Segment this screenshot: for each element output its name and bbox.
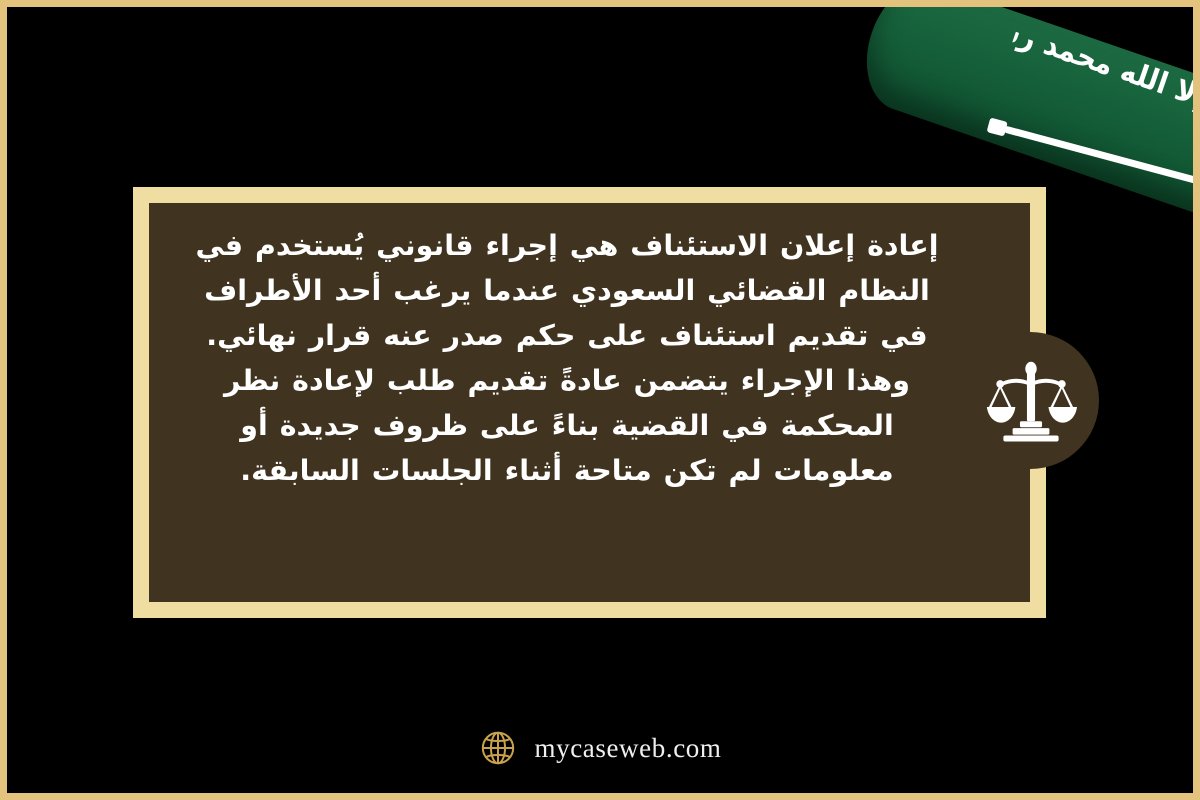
quote-panel: إعادة إعلان الاستئناف هي إجراء قانوني يُ…: [149, 203, 1030, 602]
footer: mycaseweb.com: [0, 716, 1200, 780]
quote-text: إعادة إعلان الاستئناف هي إجراء قانوني يُ…: [177, 223, 957, 493]
site-url[interactable]: mycaseweb.com: [535, 733, 722, 764]
quote-card: إعادة إعلان الاستئناف هي إجراء قانوني يُ…: [133, 187, 1046, 618]
globe-icon: [479, 729, 517, 767]
poster-canvas: لا إله إلا الله محمد رسول الله إعادة إعل…: [0, 0, 1200, 800]
scales-of-justice-icon: [985, 355, 1077, 447]
scales-of-justice-badge: [962, 332, 1099, 469]
